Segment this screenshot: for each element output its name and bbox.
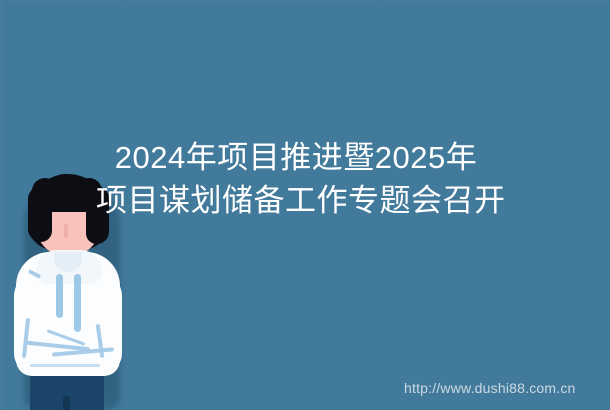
hoodie-arm-left [14, 272, 56, 372]
drawstring-left [56, 274, 63, 318]
title-line-1: 2024年项目推进暨2025年 [96, 136, 496, 179]
nose [64, 224, 68, 238]
hoodie-hem [30, 364, 100, 367]
site-watermark: http://www.dushi88.com.cn [404, 380, 576, 396]
title-line-2: 项目谋划储备工作专题会召开 [96, 179, 496, 222]
left-edge-artifact [0, 0, 3, 410]
drawstring-right [74, 274, 81, 332]
pants-leg-gap [63, 396, 70, 410]
banner-image: 2024年项目推进暨2025年 项目谋划储备工作专题会召开 http://www… [0, 0, 610, 410]
hair-side-left-icon [28, 186, 52, 242]
top-edge-artifact [0, 0, 610, 2]
banner-title: 2024年项目推进暨2025年 项目谋划储备工作专题会召开 [96, 136, 496, 222]
